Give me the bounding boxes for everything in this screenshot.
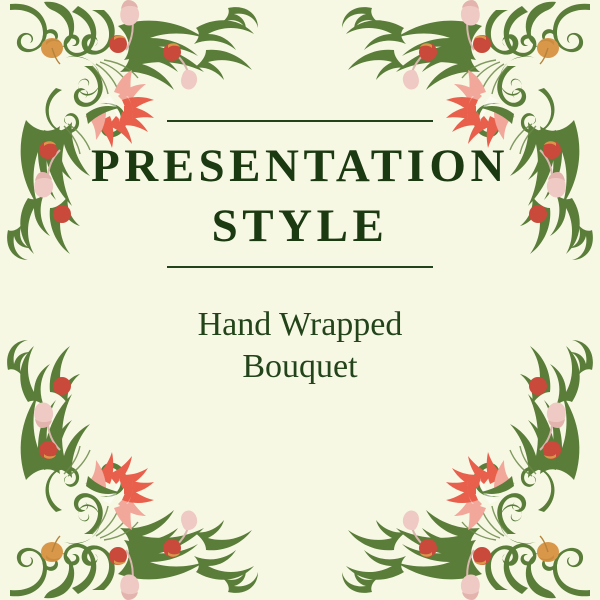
page-title: Presentation Style xyxy=(87,136,513,256)
ornament-veins xyxy=(462,446,536,540)
pink-bud-cluster xyxy=(34,402,197,600)
berry-cluster xyxy=(39,377,181,565)
ornament-stems xyxy=(48,422,188,584)
coral-flower xyxy=(446,452,514,530)
poster-text-block: Presentation Style Hand Wrapped Bouquet xyxy=(0,120,600,388)
coral-flower xyxy=(86,452,154,530)
divider-rule-top xyxy=(167,120,433,122)
presentation-style-poster: Presentation Style Hand Wrapped Bouquet xyxy=(0,0,600,600)
pink-bud-cluster xyxy=(403,402,566,600)
berry-cluster xyxy=(419,377,561,565)
page-subtitle: Hand Wrapped Bouquet xyxy=(198,268,403,388)
ornament-stems xyxy=(412,422,552,584)
ornament-veins xyxy=(64,446,138,540)
